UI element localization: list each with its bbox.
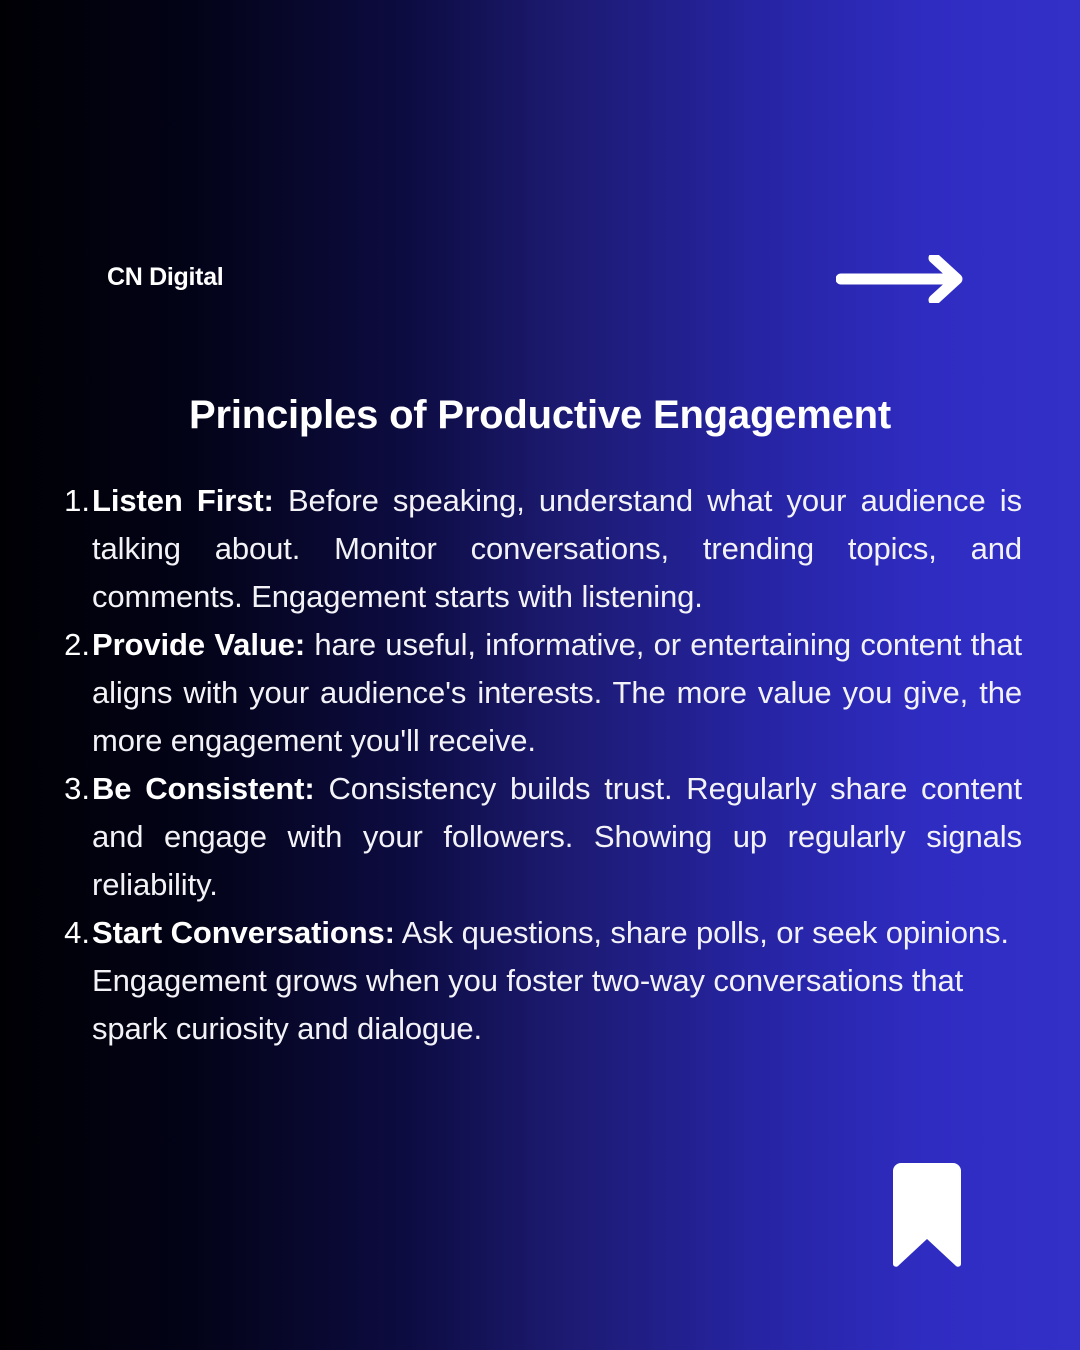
slide-canvas: CN Digital Principles of Productive Enga… [0,0,1080,1350]
list-item-body: Start Conversations: Ask questions, shar… [90,909,1022,1053]
page-title: Principles of Productive Engagement [0,390,1080,440]
arrow-right-icon[interactable] [836,255,968,303]
list-item-body: Be Consistent: Consistency builds trust.… [90,765,1022,909]
list-item-number: 3. [60,765,90,813]
principles-list: 1. Listen First: Before speaking, unders… [60,477,1022,1053]
brand-logo-text: CN Digital [107,255,223,299]
list-item: 2. Provide Value: hare useful, informati… [60,621,1022,765]
bookmark-icon[interactable] [889,1163,965,1267]
list-item: 3. Be Consistent: Consistency builds tru… [60,765,1022,909]
list-item-number: 2. [60,621,90,669]
list-item: 1. Listen First: Before speaking, unders… [60,477,1022,621]
list-item-number: 4. [60,909,90,957]
list-item-body: Provide Value: hare useful, informative,… [90,621,1022,765]
list-item-body: Listen First: Before speaking, understan… [90,477,1022,621]
list-item: 4. Start Conversations: Ask questions, s… [60,909,1022,1053]
header: CN Digital [0,255,1080,315]
list-item-term: Listen First: [92,483,274,518]
list-item-term: Start Conversations: [92,915,395,950]
list-item-term: Be Consistent: [92,771,315,806]
list-item-term: Provide Value: [92,627,305,662]
list-item-number: 1. [60,477,90,525]
